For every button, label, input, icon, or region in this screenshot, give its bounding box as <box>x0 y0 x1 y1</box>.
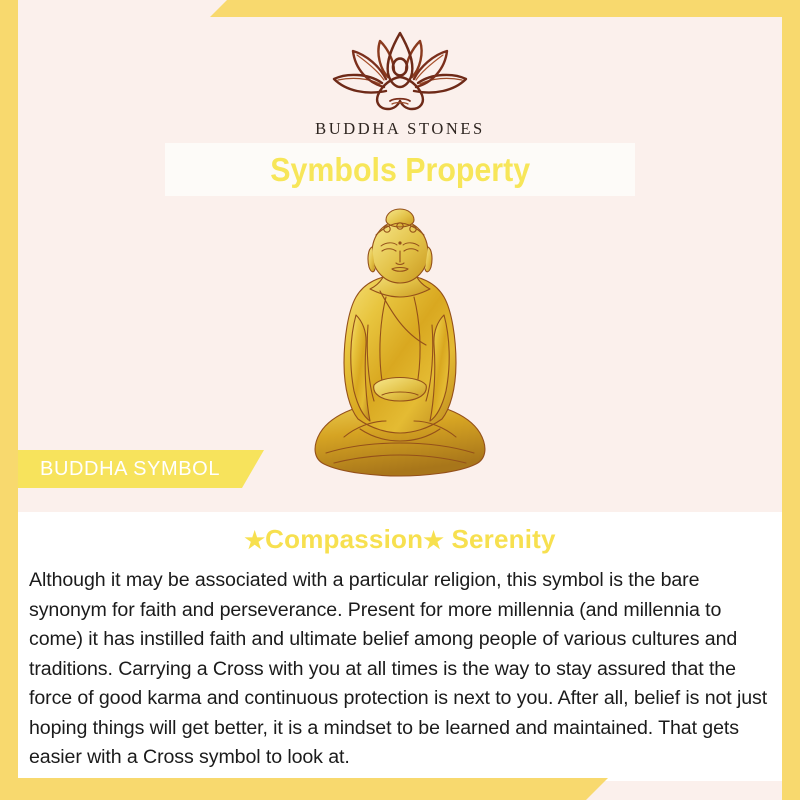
brand-logo: BUDDHA STONES <box>18 25 782 139</box>
title-banner: Symbols Property <box>165 143 635 196</box>
hero-image-container <box>18 205 782 487</box>
lotus-meditation-icon <box>322 25 478 117</box>
subtitle-word-compassion: Compassion <box>265 524 423 554</box>
star-icon-left: ★ <box>244 527 265 553</box>
right-border-strip <box>782 0 800 800</box>
content-subtitle: ★Compassion★ Serenity <box>18 512 782 555</box>
golden-buddha-statue-icon <box>308 205 492 487</box>
subtitle-word-serenity: Serenity <box>451 524 555 554</box>
star-icon-right: ★ <box>423 527 444 553</box>
top-banner-strip <box>210 0 800 17</box>
poster-body: BUDDHA STONES Symbols Property <box>18 17 782 800</box>
section-tag: BUDDHA SYMBOL <box>18 450 264 488</box>
left-border-strip <box>0 0 18 800</box>
content-card: ★Compassion★ Serenity Although it may be… <box>18 512 782 781</box>
content-paragraph: Although it may be associated with a par… <box>29 566 771 773</box>
page-title: Symbols Property <box>270 151 530 189</box>
brand-wordmark: BUDDHA STONES <box>315 119 485 139</box>
section-tag-label: BUDDHA SYMBOL <box>18 458 220 481</box>
bottom-banner-strip <box>0 778 608 800</box>
